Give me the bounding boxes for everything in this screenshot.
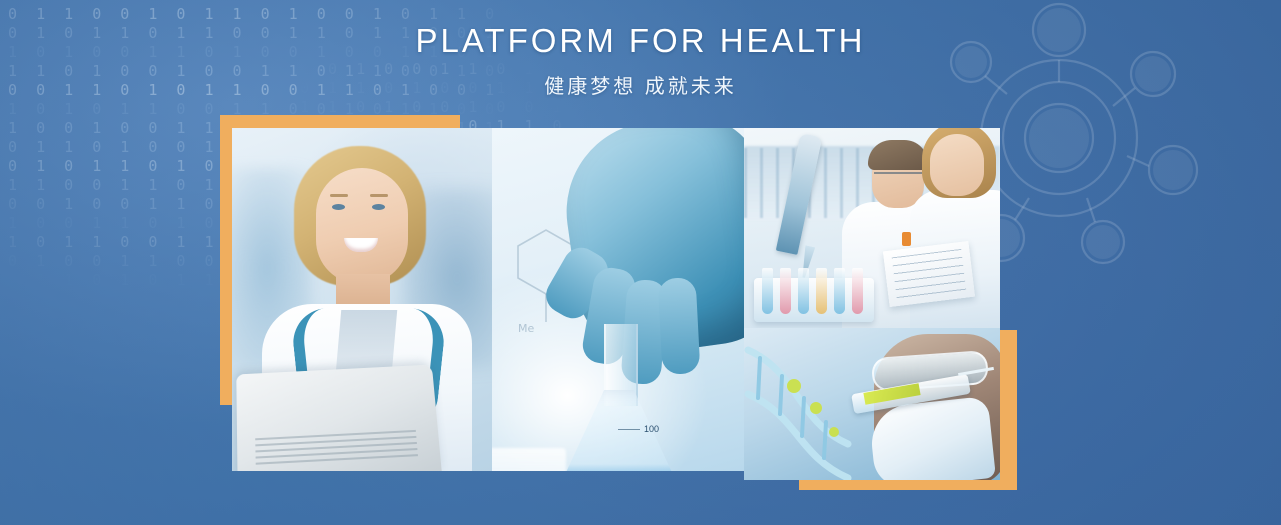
safety-glasses-icon — [874, 172, 922, 186]
test-tube — [852, 268, 863, 314]
test-tube — [834, 268, 845, 314]
male-scientist-hair — [868, 140, 928, 170]
coat-badge — [902, 232, 911, 246]
monitor-vent — [255, 430, 418, 467]
svg-text:Me: Me — [518, 322, 534, 335]
test-tube-rack — [762, 256, 866, 314]
hero-banner: 0 1 0 0 1 1 0 1 0 0 1 0 0 1 1 0 1 0 0 11… — [0, 0, 1281, 525]
test-tube — [780, 268, 791, 314]
banner-headline: PLATFORM FOR HEALTH — [0, 22, 1281, 60]
doctor-eye-right — [372, 204, 385, 210]
computer-monitor — [236, 365, 441, 471]
test-tube — [816, 268, 827, 314]
photo-lab-team — [744, 128, 1000, 328]
doctor-eyebrow-left — [330, 194, 348, 197]
flask-graduation-75: 75 — [644, 470, 654, 471]
flask-graduation-100: 100 — [644, 424, 659, 434]
background-beaker — [492, 448, 566, 471]
doctor-face — [316, 168, 408, 284]
doctor-eye-left — [332, 204, 345, 210]
notebook-lines — [892, 249, 967, 299]
banner-subheadline: 健康梦想 成就未来 — [0, 70, 1281, 99]
test-tube — [798, 268, 809, 314]
banner-heading-group: PLATFORM FOR HEALTH 健康梦想 成就未来 — [0, 22, 1281, 99]
photo-dna-syringe — [744, 328, 1000, 480]
notebook — [883, 241, 975, 307]
glove-finger-3 — [658, 277, 701, 375]
doctor-eyebrow-right — [370, 194, 388, 197]
photo-doctor — [232, 128, 492, 471]
female-scientist-head — [930, 134, 984, 196]
test-tube — [762, 268, 773, 314]
photo-flask: Me OH O 100 75 50 — [492, 128, 744, 471]
